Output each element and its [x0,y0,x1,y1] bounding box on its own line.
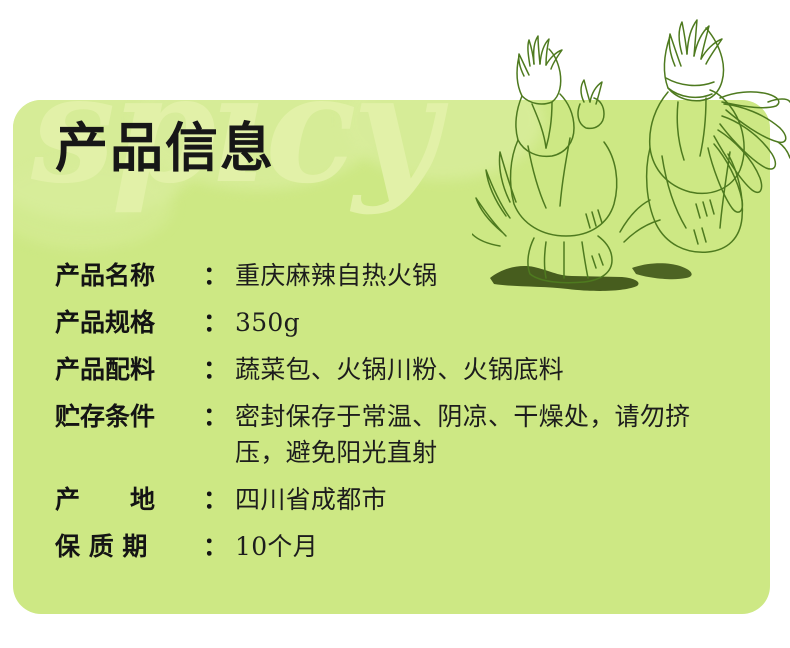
info-colon: ： [203,353,228,388]
info-value-ingredients: 蔬菜包、火锅川粉、火锅底料 [235,352,715,388]
info-colon: ： [203,483,228,518]
info-row-product-name: 产品名称 ： 重庆麻辣自热火锅 [55,258,715,294]
info-label-ingredients: 产品配料 [55,353,203,388]
info-value-origin: 四川省成都市 [235,482,715,518]
info-row-ingredients: 产品配料 ： 蔬菜包、火锅川粉、火锅底料 [55,352,715,388]
info-colon: ： [203,259,228,294]
info-label-storage: 贮存条件 [55,400,203,435]
product-info-list: 产品名称 ： 重庆麻辣自热火锅 产品规格 ： 350g 产品配料 ： 蔬菜包、火… [55,258,715,576]
info-row-specification: 产品规格 ： 350g [55,305,715,341]
info-row-shelf-life: 保 质 期 ： 10个月 [55,529,715,565]
page-title: 产品信息 [55,118,275,179]
info-row-storage: 贮存条件 ： 密封保存于常温、阴凉、干燥处，请勿挤压，避免阳光直射 [55,399,715,471]
info-colon: ： [203,530,228,565]
info-colon: ： [203,400,228,435]
info-value-storage: 密封保存于常温、阴凉、干燥处，请勿挤压，避免阳光直射 [235,399,709,471]
info-label-product-name: 产品名称 [55,259,203,294]
product-info-banner: spicy 产品信息 [0,0,790,648]
info-value-product-name: 重庆麻辣自热火锅 [235,258,715,294]
info-label-shelf-life: 保 质 期 [55,530,203,565]
info-value-shelf-life: 10个月 [235,529,715,565]
info-colon: ： [203,306,228,341]
info-value-specification: 350g [235,305,715,341]
info-row-origin: 产 地 ： 四川省成都市 [55,482,715,518]
info-label-origin: 产 地 [55,483,203,518]
info-label-specification: 产品规格 [55,306,203,341]
